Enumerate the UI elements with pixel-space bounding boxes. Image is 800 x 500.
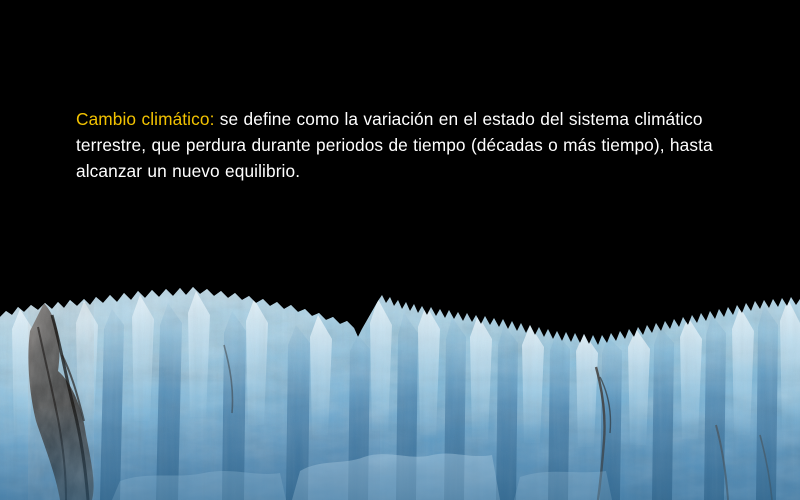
- caption-term: Cambio climático:: [76, 109, 214, 129]
- base-shadow-wash: [0, 405, 800, 500]
- glacier-image: [0, 285, 800, 500]
- caption-text: Cambio climático: se define como la vari…: [76, 107, 738, 184]
- glacier-illustration: [0, 285, 800, 500]
- slide-canvas: Cambio climático: se define como la vari…: [0, 0, 800, 500]
